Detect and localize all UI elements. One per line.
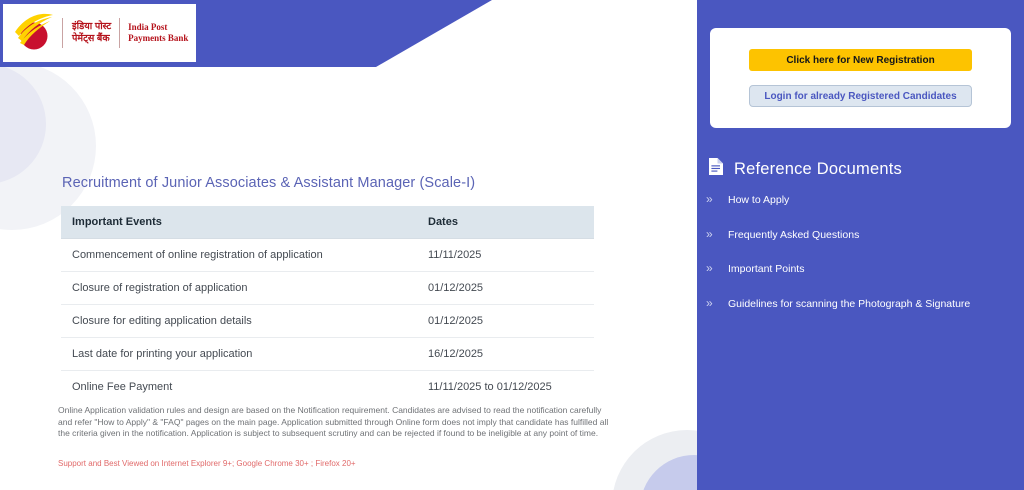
event-name-cell: Online Fee Payment (61, 371, 417, 404)
document-icon (708, 157, 724, 181)
reference-link-label: Guidelines for scanning the Photograph &… (728, 297, 970, 311)
logo-divider (62, 18, 63, 48)
login-registered-candidates-button[interactable]: Login for already Registered Candidates (749, 85, 972, 107)
reference-documents-header: Reference Documents (708, 157, 902, 181)
table-body: Commencement of online registration of a… (61, 239, 594, 404)
table-row: Closure of registration of application01… (61, 272, 594, 305)
reference-link-scanning-guidelines[interactable]: » Guidelines for scanning the Photograph… (706, 297, 1006, 311)
validation-note: Online Application validation rules and … (58, 405, 610, 440)
main-content: Recruitment of Junior Associates & Assis… (0, 67, 697, 490)
india-post-logo-icon (13, 12, 55, 54)
logo-hindi-line-1: इंडिया पोस्ट (72, 21, 111, 33)
page-root: इंडिया पोस्ट पेमेंट्स बैंक India Post Pa… (0, 0, 1024, 490)
event-date-cell: 11/11/2025 to 01/12/2025 (417, 371, 594, 404)
reference-link-important-points[interactable]: » Important Points (706, 262, 1006, 276)
logo-divider-2 (119, 18, 120, 48)
double-chevron-right-icon: » (706, 262, 718, 275)
event-date-cell: 01/12/2025 (417, 272, 594, 305)
double-chevron-right-icon: » (706, 228, 718, 241)
brand-logo: इंडिया पोस्ट पेमेंट्स बैंक India Post Pa… (3, 4, 196, 62)
logo-hindi-text: इंडिया पोस्ट पेमेंट्स बैंक (72, 21, 111, 45)
reference-link-label: Frequently Asked Questions (728, 228, 859, 242)
event-name-cell: Closure of registration of application (61, 272, 417, 305)
important-events-table: Important Events Dates Commencement of o… (61, 206, 594, 403)
column-header-important-events: Important Events (61, 206, 417, 239)
sidebar-panel: Click here for New Registration Login fo… (697, 0, 1024, 490)
logo-hindi-line-2: पेमेंट्स बैंक (72, 33, 111, 45)
table-row: Closure for editing application details0… (61, 305, 594, 338)
event-date-cell: 11/11/2025 (417, 239, 594, 272)
table-header-row: Important Events Dates (61, 206, 594, 239)
action-card: Click here for New Registration Login fo… (710, 28, 1011, 128)
event-name-cell: Commencement of online registration of a… (61, 239, 417, 272)
browser-support-note: Support and Best Viewed on Internet Expl… (58, 459, 356, 468)
event-name-cell: Last date for printing your application (61, 338, 417, 371)
reference-link-how-to-apply[interactable]: » How to Apply (706, 193, 1006, 207)
event-date-cell: 01/12/2025 (417, 305, 594, 338)
new-registration-button[interactable]: Click here for New Registration (749, 49, 972, 71)
page-title: Recruitment of Junior Associates & Assis… (62, 175, 475, 191)
table-row: Online Fee Payment11/11/2025 to 01/12/20… (61, 371, 594, 404)
double-chevron-right-icon: » (706, 193, 718, 206)
event-name-cell: Closure for editing application details (61, 305, 417, 338)
logo-english-line-1: India Post (128, 22, 188, 34)
event-date-cell: 16/12/2025 (417, 338, 594, 371)
double-chevron-right-icon: » (706, 297, 718, 310)
reference-link-label: How to Apply (728, 193, 789, 207)
table-head: Important Events Dates (61, 206, 594, 239)
logo-english-line-2: Payments Bank (128, 33, 188, 45)
column-header-dates: Dates (417, 206, 594, 239)
reference-link-label: Important Points (728, 262, 804, 276)
table-row: Last date for printing your application1… (61, 338, 594, 371)
reference-documents-title: Reference Documents (734, 160, 902, 179)
logo-english-text: India Post Payments Bank (128, 22, 188, 45)
reference-link-faq[interactable]: » Frequently Asked Questions (706, 228, 1006, 242)
table-row: Commencement of online registration of a… (61, 239, 594, 272)
